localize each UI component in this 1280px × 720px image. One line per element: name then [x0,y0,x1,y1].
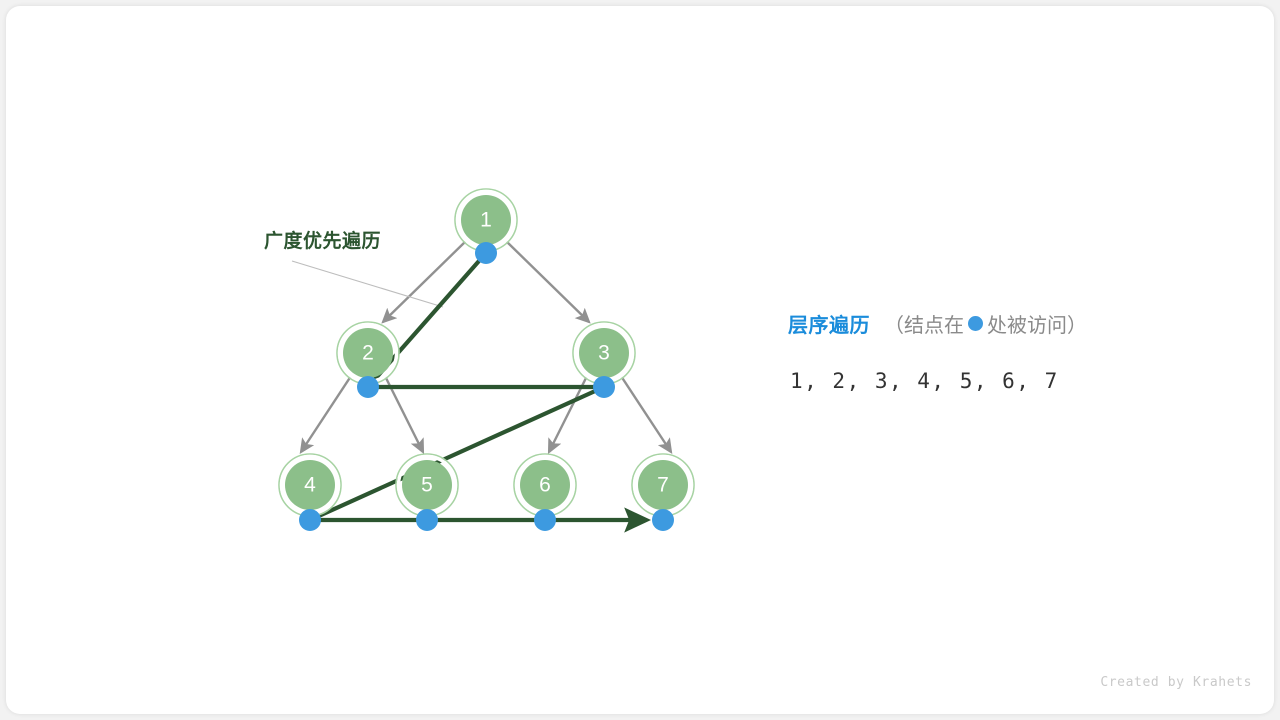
visit-dot-7[interactable] [652,509,674,531]
edge-1-2 [383,240,467,322]
tree-node-5[interactable]: 5 [396,454,458,516]
edge-2-4 [301,376,351,452]
node-label: 3 [598,342,610,365]
binary-tree-bfs-diagram: 1 2 3 4 [6,6,1274,714]
legend-title: 层序遍历 [788,309,870,338]
edge-1-3 [505,240,589,322]
tree-node-1[interactable]: 1 [455,189,517,251]
tree-node-3[interactable]: 3 [573,322,635,384]
node-label: 4 [304,474,316,497]
tree-node-4[interactable]: 4 [279,454,341,516]
visit-dot-2[interactable] [357,376,379,398]
legend-note: （结点在 处被访问） [884,309,1087,338]
node-label: 1 [480,209,492,232]
screenshot-canvas: 1 2 3 4 [0,0,1280,720]
visit-dot-icon [968,316,983,331]
tree-node-7[interactable]: 7 [632,454,694,516]
figure-card: 1 2 3 4 [6,6,1274,714]
node-label: 7 [657,474,669,497]
visit-dot-3[interactable] [593,376,615,398]
bfs-path-1-2-3 [368,253,604,387]
bfs-path-3-4-7 [310,387,646,520]
visit-dot-4[interactable] [299,509,321,531]
traversal-sequence: 1, 2, 3, 4, 5, 6, 7 [790,369,1059,393]
node-label: 2 [362,342,374,365]
legend-note-suffix: 处被访问） [987,309,1087,338]
tree-node-6[interactable]: 6 [514,454,576,516]
legend-row: 层序遍历 （结点在 处被访问） [788,309,1087,338]
edge-3-7 [621,376,671,452]
visit-dot-6[interactable] [534,509,556,531]
bfs-caption: 广度优先遍历 [264,226,381,253]
tree-node-2[interactable]: 2 [337,322,399,384]
visit-dot-1[interactable] [475,242,497,264]
legend-note-prefix: （结点在 [884,309,964,338]
node-label: 5 [421,474,433,497]
node-label: 6 [539,474,551,497]
credit-text: Created by Krahets [1100,675,1252,690]
visit-dot-5[interactable] [416,509,438,531]
